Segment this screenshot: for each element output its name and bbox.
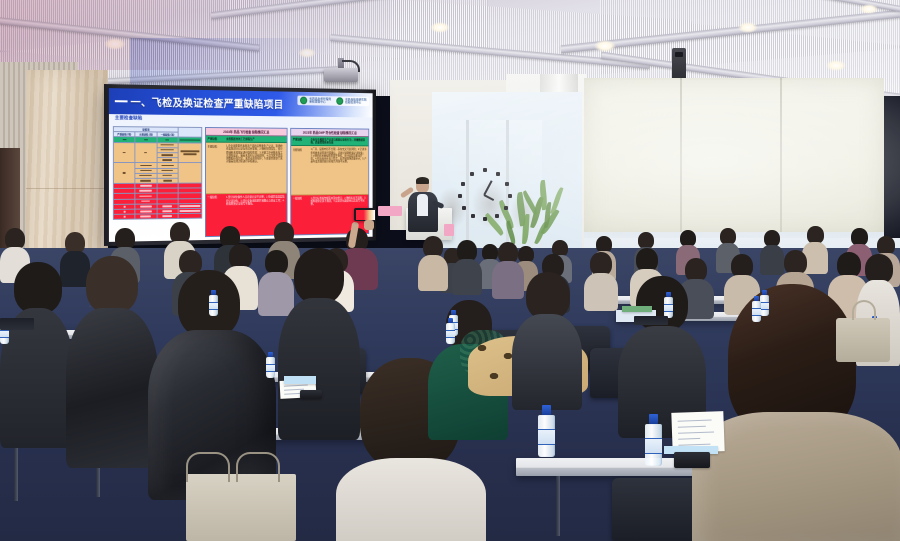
slide-panel-middle: 2023年 药品飞行检查 缺陷情况汇总 严重缺陷 未按照批准的工艺规程生产 主要…: [205, 127, 288, 237]
water-bottle[interactable]: [664, 292, 673, 318]
panel-right-severe: 严重缺陷 企业存在编造生产记录与检验记录的行为，涉嫌数据造假，质量管理体系失效: [291, 136, 368, 146]
water-bottle[interactable]: [446, 318, 455, 344]
conference-room-photo: 一、飞检及换证检查严重缺陷项目 省药品监督管理局 审核查验中心 省药品检验研究院: [0, 0, 900, 541]
tote-bag[interactable]: [186, 474, 296, 541]
logo-left-line2: 审核查验中心: [309, 100, 325, 104]
attendee: [418, 236, 448, 288]
label-severe: 严重缺陷: [293, 138, 309, 144]
logo-right: 省药品检验研究院 检验检测中心: [336, 97, 366, 105]
desk-leg: [556, 476, 560, 536]
potted-plant-right: [526, 178, 566, 238]
laptop[interactable]: [634, 316, 668, 325]
logo-right-mark-icon: [336, 97, 343, 105]
attendee-right-mid: [512, 272, 582, 402]
text-severe: 企业存在编造生产记录与检验记录的行为，涉嫌数据造假，质量管理体系失效: [311, 138, 367, 144]
projection-screen[interactable]: 一、飞检及换证检查严重缺陷项目 省药品监督管理局 审核查验中心 省药品检验研究院: [104, 84, 376, 246]
wall-speaker: [672, 48, 686, 82]
presenter: [406, 178, 440, 238]
panel-middle-major: 主要缺陷 1.企业未能提供本批次产品的完整批生产记录，现场检查发现部分记录存在后…: [206, 143, 287, 195]
tote-bag-handle: [186, 452, 230, 482]
clock-hand-hour: [484, 194, 495, 201]
attendee-front-left: [0, 262, 74, 442]
tote-bag-handle: [236, 452, 280, 482]
pink-sign-right: [444, 224, 454, 236]
water-bottle[interactable]: [538, 405, 555, 457]
water-bottle[interactable]: [752, 296, 761, 322]
window-blinds[interactable]: [584, 78, 884, 238]
slide-subtitle: 主要检查缺陷: [115, 115, 143, 121]
tote-bag-handle: [852, 300, 876, 320]
attendee: [584, 252, 618, 308]
water-bottle[interactable]: [760, 290, 769, 316]
blue-handout[interactable]: [284, 376, 316, 384]
slide-surface: 一、飞检及换证检查严重缺陷项目 省药品监督管理局 审核查验中心 省药品检验研究院: [109, 88, 373, 242]
table-row: [113, 213, 201, 219]
slide-title: 一、飞检及换证检查严重缺陷项目: [130, 94, 283, 111]
hand: [364, 220, 374, 230]
text-major: 1.厂房、设施布局不合理，存在交叉污染风险；2.空调净化系统未定期进行再确认，高…: [311, 148, 367, 192]
water-bottle[interactable]: [645, 414, 662, 466]
water-bottle[interactable]: [266, 352, 275, 378]
logo-left-mark-icon: [300, 97, 307, 105]
panel-right-major: 主要缺陷 1.厂房、设施布局不合理，存在交叉污染风险；2.空调净化系统未定期进行…: [291, 146, 368, 195]
tote-bag[interactable]: [836, 318, 890, 362]
label-major: 主要缺陷: [293, 148, 309, 192]
defect-summary-table: 缺陷项 严重缺陷 (项) 主要缺陷 (项) 一般缺陷 (项): [113, 126, 202, 220]
label-severe: 严重缺陷: [207, 137, 224, 140]
slide-logos: 省药品监督管理局 审核查验中心 省药品检验研究院 检验检测中心: [298, 96, 369, 107]
water-bottle[interactable]: [209, 290, 218, 316]
logo-left: 省药品监督管理局 审核查验中心: [300, 97, 331, 105]
smartphone-on-desk[interactable]: [300, 390, 322, 399]
logo-right-line2: 检验检测中心: [345, 100, 361, 104]
text-major: 1.企业未能提供本批次产品的完整批生产记录，现场检查发现部分记录存在后补现象；2…: [226, 145, 285, 192]
title-accent-bar: [115, 100, 128, 102]
text-severe: 未按照批准的工艺规程生产: [226, 137, 255, 140]
smartphone-on-desk[interactable]: [674, 452, 710, 468]
slide-titlebar: 一、飞检及换证检查严重缺陷项目 省药品监督管理局 审核查验中心 省药品检验研究院: [109, 88, 373, 117]
attendee: [452, 240, 482, 292]
smartphone-held-up[interactable]: [354, 208, 376, 221]
clock-hand-minute: [483, 180, 492, 195]
ceiling-projector: [318, 58, 364, 84]
slide-body: 主要检查缺陷 缺陷项 严重缺陷 (项) 主要缺陷 (项) 一般缺陷 (项): [109, 114, 373, 242]
attendee-leather-jacket-left: [66, 256, 158, 456]
green-folder[interactable]: [622, 306, 652, 312]
label-major: 主要缺陷: [207, 145, 224, 192]
laptop[interactable]: [0, 318, 34, 330]
decorative-wall-clock: [458, 168, 512, 222]
pink-sign-left: [378, 206, 402, 216]
